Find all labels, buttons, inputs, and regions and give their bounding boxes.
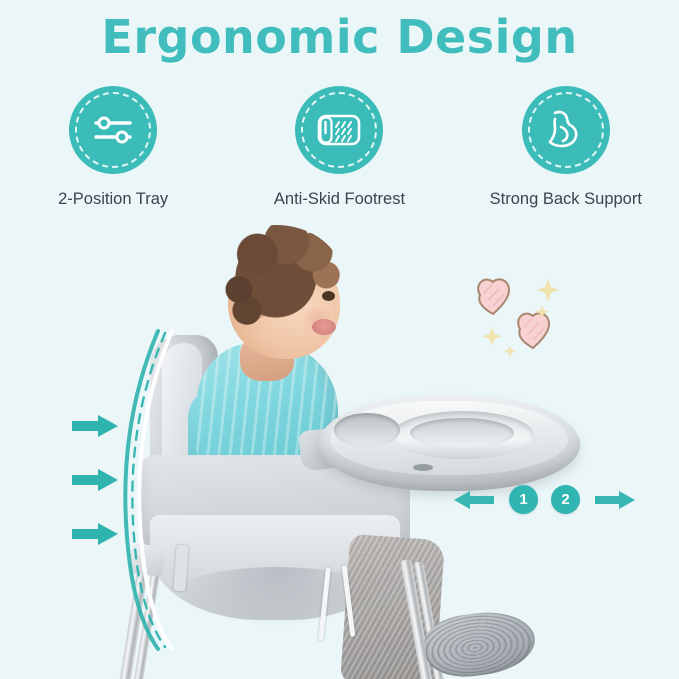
heart-icon — [518, 313, 549, 348]
flexed-bicep-icon — [522, 86, 610, 174]
tray-position-badge-1: 1 — [509, 485, 538, 514]
arrow-right-icon — [70, 521, 122, 547]
feature-item-2-position-tray: 2-Position Tray — [13, 86, 213, 209]
arrow-right-icon — [70, 467, 122, 493]
tray-cup-holder — [334, 413, 400, 447]
product-feature-image: Ergonomic Design 2-Position Tray — [0, 0, 679, 679]
tray-well-inner — [410, 418, 514, 448]
arrow-right-icon — [70, 413, 122, 439]
baby-hair — [210, 225, 342, 329]
back-support-arrows — [70, 413, 122, 547]
feature-label: Strong Back Support — [490, 190, 642, 209]
feature-list: 2-Position Tray An — [0, 86, 679, 209]
tray-position-indicator: 1 2 — [452, 485, 637, 514]
hearts-decoration — [462, 267, 574, 357]
sliders-icon — [69, 86, 157, 174]
feature-item-anti-skid-footrest: Anti-Skid Footrest — [239, 86, 439, 209]
page-title: Ergonomic Design — [0, 10, 679, 64]
arrow-left-icon — [452, 489, 496, 511]
mat-roll-icon — [295, 86, 383, 174]
tray-position-badge-2: 2 — [551, 485, 580, 514]
product-photo: 1 2 — [0, 215, 679, 679]
feature-label: Anti-Skid Footrest — [274, 190, 405, 209]
heart-icon — [478, 279, 509, 314]
arrow-right-icon — [593, 489, 637, 511]
tray-notch — [413, 464, 433, 471]
feature-item-strong-back-support: Strong Back Support — [466, 86, 666, 209]
feature-label: 2-Position Tray — [58, 190, 168, 209]
